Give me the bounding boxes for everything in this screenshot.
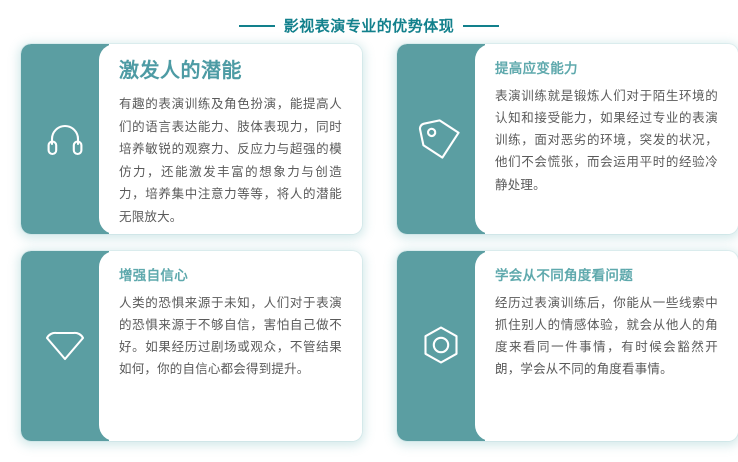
hexagon-circle-icon <box>418 323 464 369</box>
card-body: 增强自信心 人类的恐惧来源于未知，人们对于表演的恐惧来源于不够自信，害怕自己做不… <box>99 251 362 441</box>
page-title: 影视表演专业的优势体现 <box>284 19 455 34</box>
advantage-card-grid: 激发人的潜能 有趣的表演训练及角色扮演，能提高人们的语言表达能力、肢体表现力，同… <box>0 44 738 458</box>
advantage-card-4[interactable]: 学会从不同角度看问题 经历过表演训练后，你能从一些线索中抓住别人的情感体验，就会… <box>397 251 738 441</box>
card-icon-rail <box>397 251 485 441</box>
headphones-icon <box>43 117 87 161</box>
card-body: 学会从不同角度看问题 经历过表演训练后，你能从一些线索中抓住别人的情感体验，就会… <box>475 251 738 441</box>
heading-rule-right-icon <box>463 25 499 27</box>
advantage-card-3[interactable]: 增强自信心 人类的恐惧来源于未知，人们对于表演的恐惧来源于不够自信，害怕自己做不… <box>21 251 362 441</box>
advantage-card-1[interactable]: 激发人的潜能 有趣的表演训练及角色扮演，能提高人们的语言表达能力、肢体表现力，同… <box>21 44 362 234</box>
advantage-card-2[interactable]: 提高应变能力 表演训练就是锻炼人们对于陌生环境的认知和接受能力，如果经过专业的表… <box>397 44 738 234</box>
card-title: 激发人的潜能 <box>119 58 342 84</box>
diamond-icon <box>41 324 89 368</box>
card-title: 提高应变能力 <box>495 60 718 78</box>
card-title: 学会从不同角度看问题 <box>495 267 718 285</box>
card-icon-rail <box>21 251 109 441</box>
card-icon-rail <box>21 44 109 234</box>
page-heading: 影视表演专业的优势体现 <box>0 0 738 40</box>
card-description: 经历过表演训练后，你能从一些线索中抓住别人的情感体验，就会从他人的角度来看同一件… <box>495 292 718 381</box>
heading-rule-left-icon <box>239 25 275 27</box>
card-title: 增强自信心 <box>119 267 342 285</box>
card-body: 提高应变能力 表演训练就是锻炼人们对于陌生环境的认知和接受能力，如果经过专业的表… <box>475 44 738 234</box>
card-description: 表演训练就是锻炼人们对于陌生环境的认知和接受能力，如果经过专业的表演训练，面对恶… <box>495 85 718 196</box>
card-icon-rail <box>397 44 485 234</box>
card-description: 有趣的表演训练及角色扮演，能提高人们的语言表达能力、肢体表现力，同时培养敏锐的观… <box>119 93 342 228</box>
card-description: 人类的恐惧来源于未知，人们对于表演的恐惧来源于不够自信，害怕自己做不好。如果经历… <box>119 292 342 381</box>
tag-icon <box>418 116 464 162</box>
card-body: 激发人的潜能 有趣的表演训练及角色扮演，能提高人们的语言表达能力、肢体表现力，同… <box>99 44 362 234</box>
